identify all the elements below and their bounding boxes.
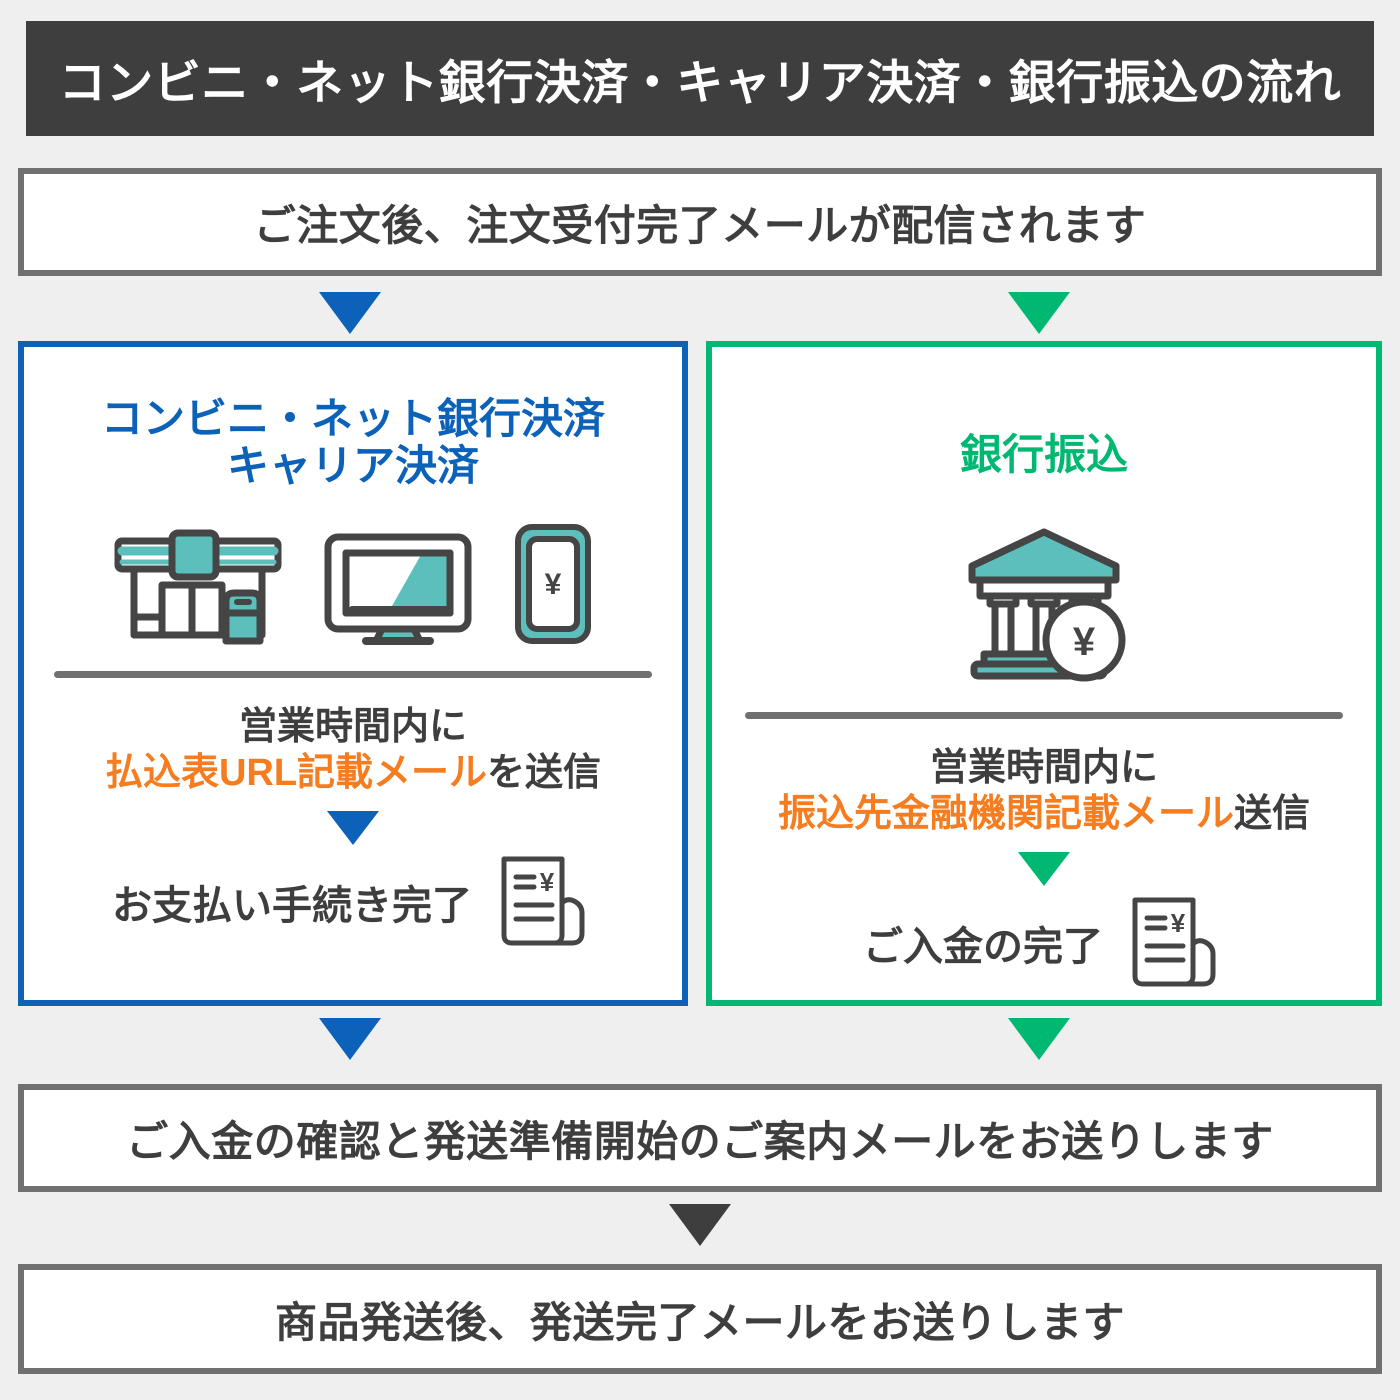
receipt-yen-icon: ¥ [1119, 892, 1225, 994]
step-payment-confirmed-box: ご入金の確認と発送準備開始のご案内メールをお送りします [18, 1084, 1382, 1192]
page-header: コンビニ・ネット銀行決済・キャリア決済・銀行振込の流れ [26, 21, 1374, 136]
page-title: コンビニ・ネット銀行決済・キャリア決済・銀行振込の流れ [59, 44, 1342, 113]
convenience-title-line1: コンビニ・ネット銀行決済 [101, 395, 605, 442]
smartphone-yen-icon: ¥ [510, 521, 596, 647]
bank-note: 営業時間内に 振込先金融機関記載メール送信 [778, 745, 1310, 838]
step-order-label: ご注文後、注文受付完了メールが配信されます [254, 192, 1147, 253]
convenience-divider [54, 671, 652, 678]
arrow-down-to-bank-icon [1008, 292, 1070, 334]
convenience-note-highlight: 払込表URL記載メール [105, 752, 487, 794]
arrow-down-to-shipped-icon [669, 1204, 731, 1246]
convenience-note-line1: 営業時間内に [105, 704, 601, 750]
convenience-note: 営業時間内に 払込表URL記載メールを送信 [105, 704, 601, 797]
convenience-title-line2: キャリア決済 [101, 442, 605, 489]
step-payment-confirmed-label: ご入金の確認と発送準備開始のご案内メールをお送りします [126, 1108, 1274, 1169]
arrow-down-from-convenience-icon [319, 1018, 381, 1060]
receipt-yen-glyph: ¥ [540, 867, 555, 897]
arrow-down-bank-done-icon [1018, 852, 1070, 886]
convenience-done-row: お支払い手続き完了 ¥ [112, 851, 594, 953]
step-shipped-box: 商品発送後、発送完了メールをお送りします [18, 1264, 1382, 1374]
bank-note-suffix: 送信 [1234, 793, 1310, 835]
receipt-yen-icon: ¥ [488, 851, 594, 953]
step-shipped-label: 商品発送後、発送完了メールをお送りします [275, 1289, 1125, 1350]
bank-note-line1: 営業時間内に [778, 745, 1310, 791]
convenience-note-suffix: を送信 [487, 752, 601, 794]
receipt-yen-glyph: ¥ [1171, 908, 1186, 938]
smartphone-yen-glyph: ¥ [545, 568, 562, 601]
bank-divider [745, 712, 1343, 719]
bank-icon-row: ¥ [956, 524, 1132, 684]
bank-note-highlight: 振込先金融機関記載メール [778, 793, 1234, 835]
bank-yen-glyph: ¥ [1073, 620, 1096, 664]
arrow-down-to-convenience-icon [319, 292, 381, 334]
step-order-box: ご注文後、注文受付完了メールが配信されます [18, 168, 1382, 276]
convenience-payment-panel: コンビニ・ネット銀行決済 キャリア決済 [18, 341, 688, 1006]
bank-building-yen-icon: ¥ [956, 524, 1132, 684]
arrow-down-convenience-done-icon [327, 811, 379, 845]
bank-panel-title: 銀行振込 [960, 431, 1128, 478]
bank-title-line1: 銀行振込 [960, 431, 1128, 478]
desktop-monitor-icon [322, 531, 474, 647]
bank-note-line2: 振込先金融機関記載メール送信 [778, 791, 1310, 837]
convenience-done-label: お支払い手続き完了 [112, 873, 472, 931]
arrow-down-from-bank-icon [1008, 1018, 1070, 1060]
bank-done-row: ご入金の完了 ¥ [863, 892, 1225, 994]
convenience-icon-row: ¥ [110, 521, 596, 647]
convenience-panel-title: コンビニ・ネット銀行決済 キャリア決済 [101, 395, 605, 489]
convenience-note-line2: 払込表URL記載メールを送信 [105, 750, 601, 796]
convenience-store-icon [110, 523, 286, 647]
bank-transfer-panel: 銀行振込 [706, 341, 1382, 1006]
bank-done-label: ご入金の完了 [863, 914, 1103, 972]
